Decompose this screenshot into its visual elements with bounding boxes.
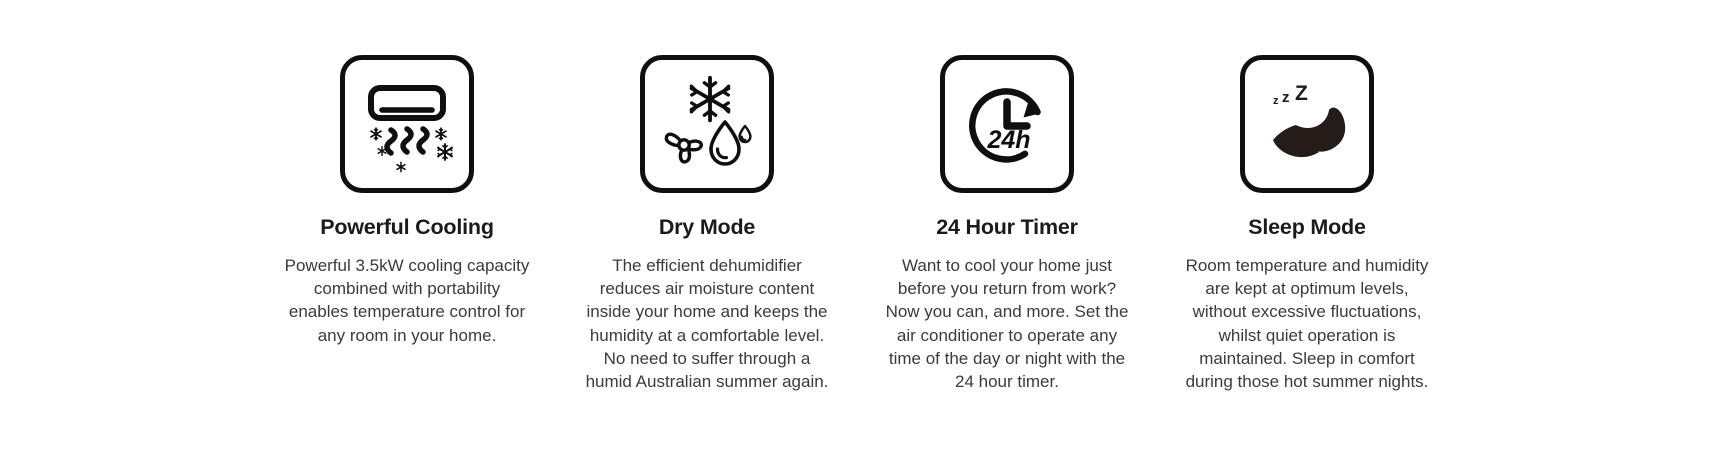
24-hour-timer-icon: 24h: [955, 72, 1059, 176]
timer-icon-box: 24h: [940, 55, 1074, 193]
feature-title: Powerful Cooling: [320, 215, 494, 241]
fan-icon: [666, 134, 701, 162]
feature-description: Room temperature and humidity are kept a…: [1182, 254, 1432, 394]
feature-description: The efficient dehumidifier reduces air m…: [581, 254, 833, 394]
feature-title: Sleep Mode: [1248, 215, 1365, 241]
dry-mode-icon-box: [640, 55, 774, 193]
crescent-moon-icon: [1273, 108, 1345, 158]
feature-title: 24 Hour Timer: [936, 215, 1078, 241]
feature-card-24-hour-timer: 24h 24 Hour Timer Want to cool your home…: [857, 55, 1157, 393]
feature-highlights-section: Powerful Cooling Powerful 3.5kW cooling …: [0, 0, 1714, 474]
feature-card-dry-mode: Dry Mode The efficient dehumidifier redu…: [557, 55, 857, 393]
sleep-mode-icon-box: z z Z: [1240, 55, 1374, 193]
svg-text:Z: Z: [1295, 82, 1308, 105]
dry-mode-icon: [655, 72, 759, 176]
timer-icon-label: 24h: [986, 126, 1030, 154]
water-droplet-icon: [711, 122, 750, 164]
sleep-z-letters: z z Z: [1273, 82, 1308, 107]
snowflake-icon: [691, 78, 728, 121]
svg-text:z: z: [1273, 95, 1279, 107]
feature-description: Powerful 3.5kW cooling capacity combined…: [283, 254, 531, 347]
svg-text:z: z: [1282, 89, 1290, 106]
feature-description: Want to cool your home just before you r…: [882, 254, 1132, 394]
feature-card-powerful-cooling: Powerful Cooling Powerful 3.5kW cooling …: [257, 55, 557, 347]
feature-title: Dry Mode: [659, 215, 755, 241]
powerful-cooling-icon: [355, 72, 459, 176]
feature-card-sleep-mode: z z Z Sleep Mode Room temperature and hu…: [1157, 55, 1457, 393]
powerful-cooling-icon-box: [340, 55, 474, 193]
sleep-mode-icon: z z Z: [1255, 72, 1359, 176]
